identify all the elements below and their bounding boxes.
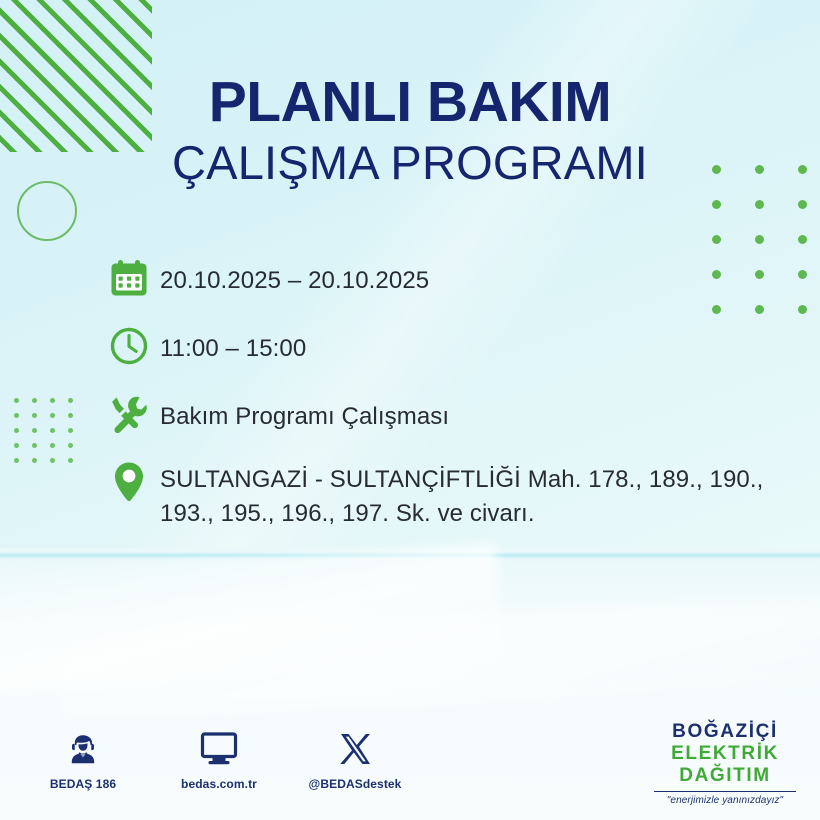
dot xyxy=(14,428,19,433)
circle-outline-decoration xyxy=(17,181,77,241)
dot xyxy=(68,428,73,433)
dot xyxy=(50,398,55,403)
dot xyxy=(32,413,37,418)
dot xyxy=(32,443,37,448)
detail-text-date: 20.10.2025 – 20.10.2025 xyxy=(160,254,429,298)
dot-grid-left-decoration xyxy=(14,398,86,473)
dot xyxy=(755,200,764,209)
tools-icon xyxy=(108,390,160,438)
dot xyxy=(798,235,807,244)
bedas-logo: BOĞAZİÇİ ELEKTRİK DAĞITIM "enerjimizle y… xyxy=(650,722,800,806)
brand-line-bogazici: BOĞAZİÇİ xyxy=(650,722,800,741)
brand-line-elektrik: ELEKTRİK xyxy=(650,744,800,763)
contact-website[interactable]: bedas.com.tr xyxy=(172,726,266,791)
contact-label-call-center: BEDAŞ 186 xyxy=(36,777,130,791)
detail-text-work-type: Bakım Programı Çalışması xyxy=(160,390,449,434)
dot xyxy=(50,428,55,433)
contact-label-website: bedas.com.tr xyxy=(172,777,266,791)
dot xyxy=(50,413,55,418)
dot xyxy=(68,443,73,448)
monitor-icon xyxy=(172,726,266,772)
contact-label-x-account: @BEDASdestek xyxy=(308,777,402,791)
call-center-agent-icon xyxy=(36,726,130,772)
contact-channels: BEDAŞ 186 bedas.com.tr xyxy=(36,726,402,791)
contact-x-account[interactable]: @BEDASdestek xyxy=(308,726,402,791)
brand-line-dagitim: DAĞITIM xyxy=(650,766,800,785)
contact-call-center[interactable]: BEDAŞ 186 xyxy=(36,726,130,791)
planned-maintenance-poster: PLANLI BAKIM ÇALIŞMA PROGRAMI xyxy=(0,0,820,820)
detail-row-work-type: Bakım Programı Çalışması xyxy=(108,390,808,438)
dot xyxy=(798,200,807,209)
calendar-icon xyxy=(108,254,160,302)
dot xyxy=(14,458,19,463)
brand-tagline: "enerjimizle yanınızdayız" xyxy=(650,796,800,806)
footer: BEDAŞ 186 bedas.com.tr xyxy=(0,716,820,820)
dot xyxy=(32,398,37,403)
brand-divider xyxy=(654,791,796,792)
clock-icon xyxy=(108,322,160,370)
dot xyxy=(68,413,73,418)
dot xyxy=(755,235,764,244)
dot xyxy=(32,428,37,433)
dot xyxy=(14,398,19,403)
dot xyxy=(68,398,73,403)
dot xyxy=(50,458,55,463)
detail-row-time: 11:00 – 15:00 xyxy=(108,322,808,370)
dot xyxy=(14,413,19,418)
detail-text-time: 11:00 – 15:00 xyxy=(160,322,306,366)
detail-row-date: 20.10.2025 – 20.10.2025 xyxy=(108,254,808,302)
dot xyxy=(14,443,19,448)
headline-primary: PLANLI BAKIM xyxy=(0,74,820,131)
detail-text-location: SULTANGAZİ - SULTANÇİFTLİĞİ Mah. 178., 1… xyxy=(160,458,808,531)
location-pin-icon xyxy=(108,458,160,506)
maintenance-details-list: 20.10.2025 – 20.10.2025 11:00 – 15:00 xyxy=(108,254,808,531)
page-title: PLANLI BAKIM ÇALIŞMA PROGRAMI xyxy=(0,74,820,186)
dot xyxy=(712,235,721,244)
dot xyxy=(32,458,37,463)
headline-secondary: ÇALIŞMA PROGRAMI xyxy=(0,139,820,186)
dot xyxy=(68,458,73,463)
x-twitter-icon xyxy=(308,726,402,772)
dot xyxy=(712,200,721,209)
dot xyxy=(50,443,55,448)
detail-row-location: SULTANGAZİ - SULTANÇİFTLİĞİ Mah. 178., 1… xyxy=(108,458,808,531)
